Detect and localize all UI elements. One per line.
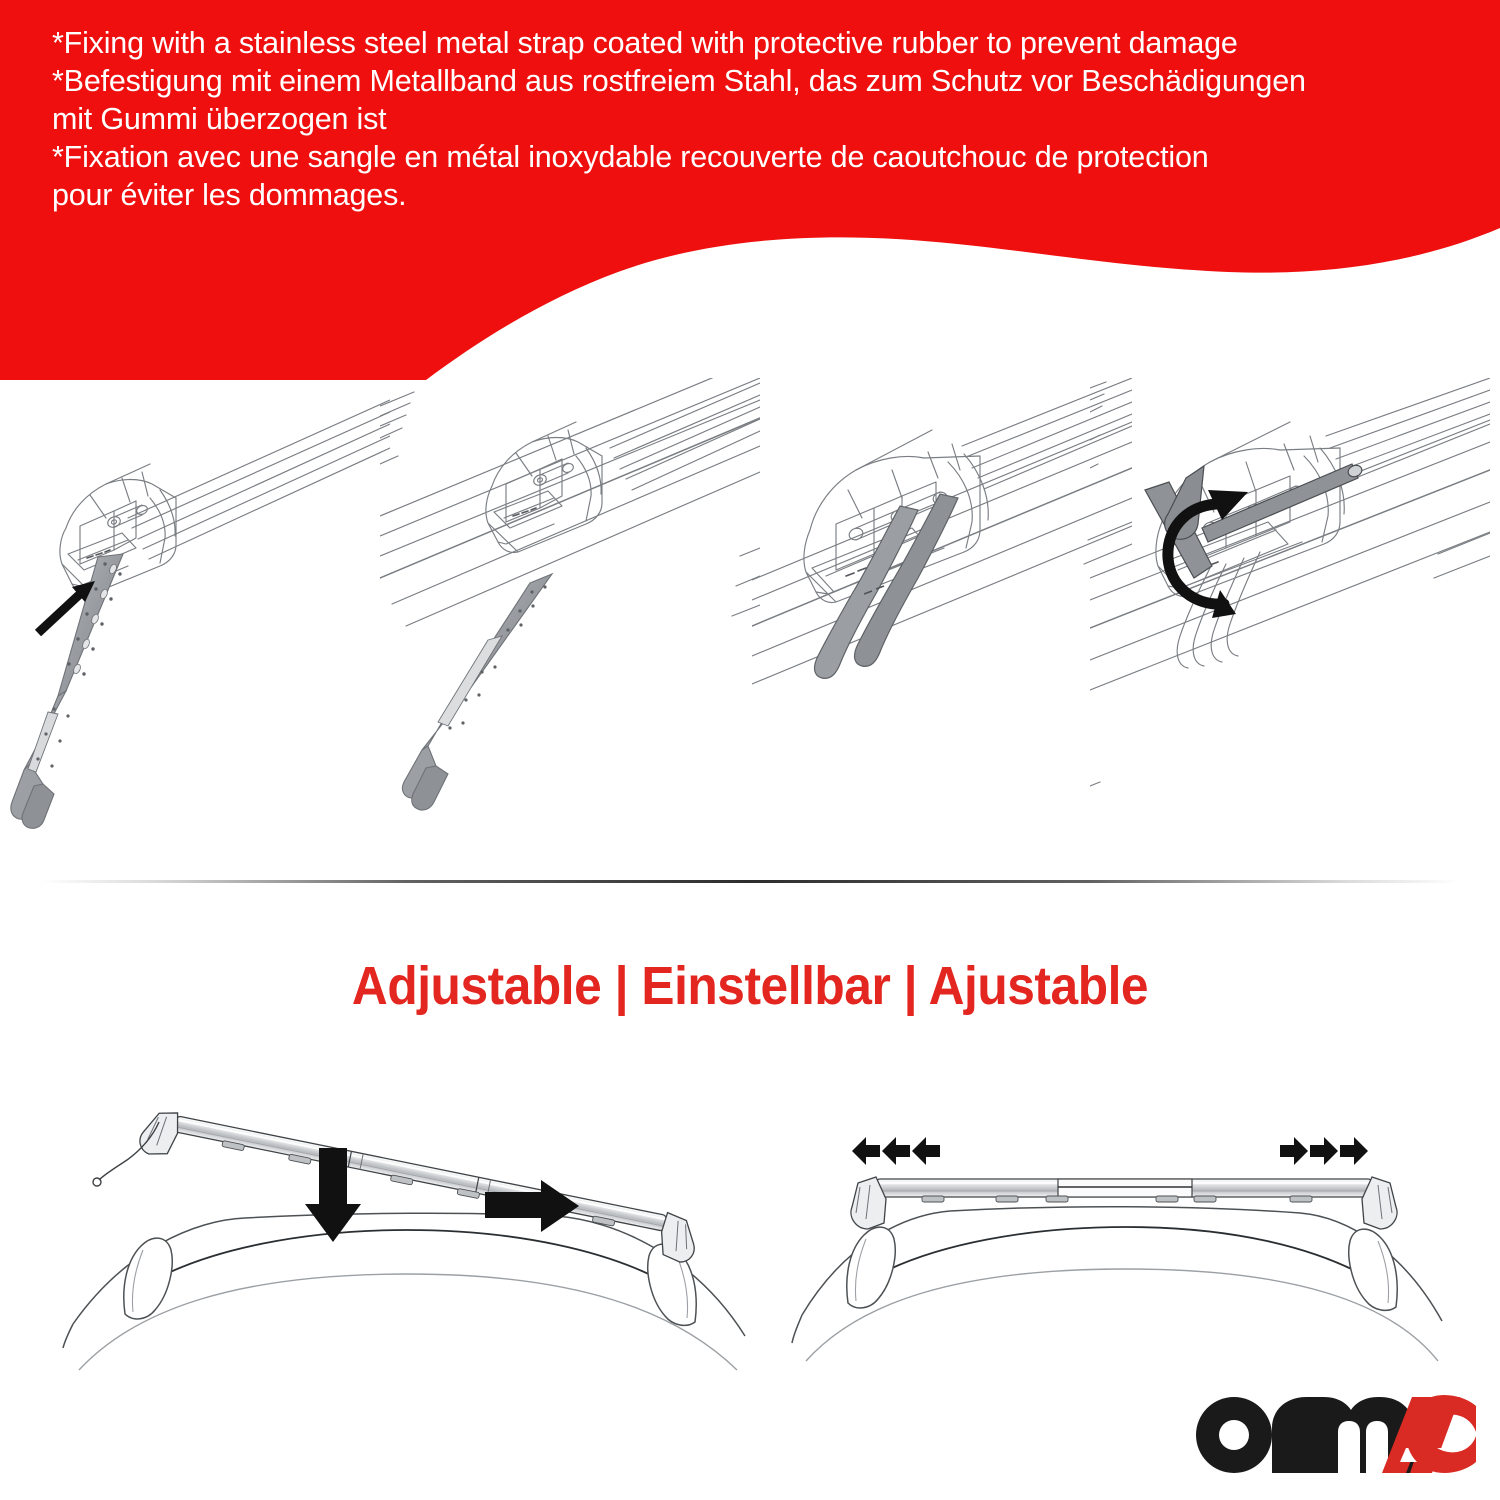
banner-description-text: *Fixing with a stainless steel metal str… [52,24,1452,214]
rubber-coated-strap [815,494,958,678]
step-1-insert-strap [10,378,390,878]
triple-right-arrow-icon [1280,1137,1368,1165]
crossbar-width-adjust-icon [790,1115,1460,1395]
section-divider [40,880,1460,883]
insert-strap-arrow-up-icon [10,378,390,878]
crossbar-lowering-onto-roof-diagram [55,1070,775,1390]
omac-logo [1196,1392,1476,1478]
adjustable-diagrams-row [0,1070,1500,1390]
red-banner: *Fixing with a stainless steel metal str… [0,0,1500,380]
omac-logo-icon [1196,1392,1476,1478]
metal-strap [402,574,552,810]
strap-wrapped-rail-icon [752,378,1132,878]
adjustable-heading: Adjustable | Einstellbar | Ajustable [60,955,1440,1017]
strap-positioned-icon [380,378,760,878]
crossbar-width-adjustment-diagram [790,1115,1460,1395]
step-2-strap-positioned [380,378,760,878]
step-3-strap-wrapped [752,378,1132,878]
metal-strap [11,554,123,828]
triple-left-arrow-icon [852,1137,940,1165]
installation-steps-row [0,378,1500,878]
crossbar-lowering-icon [55,1070,775,1390]
step-4-tighten-allen-key [1090,378,1490,878]
product-infographic-page: *Fixing with a stainless steel metal str… [0,0,1500,1500]
allen-key-rotate-icon [1090,378,1490,878]
